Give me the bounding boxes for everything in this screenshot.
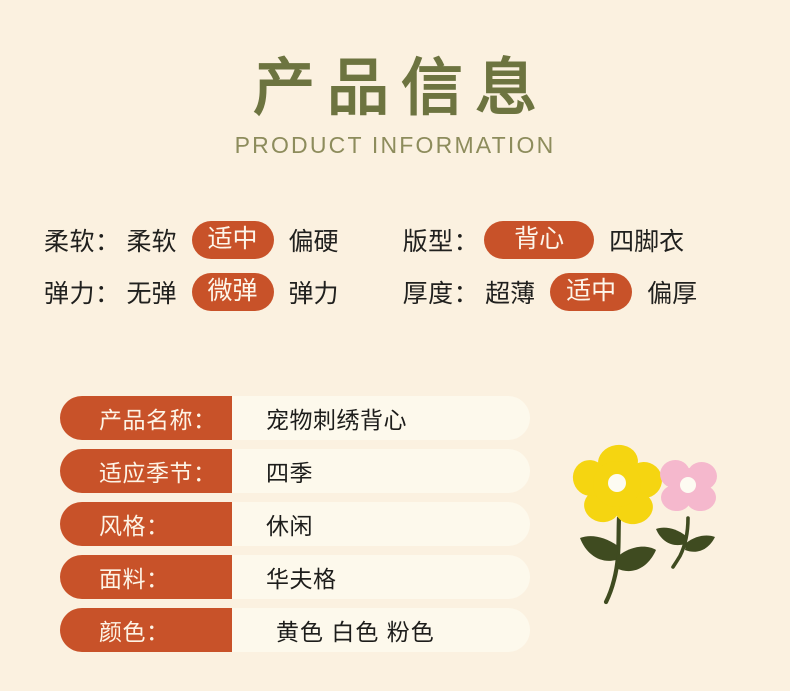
attribute-option-softness-medium-selected[interactable]: 适中: [192, 221, 274, 259]
attribute-option-softness-soft[interactable]: 柔软: [121, 222, 187, 258]
table-row: 产品名称： 宠物刺绣背心: [60, 396, 530, 440]
spec-value-product-name: 宠物刺绣背心: [232, 396, 530, 440]
attribute-option-thickness-medium-selected[interactable]: 适中: [550, 273, 632, 311]
spec-key-fabric: 面料：: [60, 555, 232, 599]
attribute-option-fit-four-legged[interactable]: 四脚衣: [599, 222, 694, 258]
specification-table: 产品名称： 宠物刺绣背心 适应季节： 四季 风格： 休闲 面料： 华夫格 颜色：…: [60, 396, 530, 652]
attribute-option-elasticity-none[interactable]: 无弹: [121, 274, 187, 310]
attribute-column-left: 柔软： 柔软 适中 偏硬 弹力： 无弹 微弹 弹力: [44, 221, 349, 311]
attribute-option-elasticity-slight-selected[interactable]: 微弹: [192, 273, 274, 311]
attribute-scales: 柔软： 柔软 适中 偏硬 弹力： 无弹 微弹 弹力 版型： 背心 四脚衣 厚度：…: [0, 221, 790, 311]
table-row: 颜色： 黄色 白色 粉色: [60, 608, 530, 652]
attribute-row-thickness: 厚度： 超薄 适中 偏厚: [403, 273, 708, 311]
attribute-option-fit-vest-selected[interactable]: 背心: [484, 221, 594, 259]
page-header: 产品信息 PRODUCT INFORMATION: [0, 0, 790, 159]
spec-value-season: 四季: [232, 449, 530, 493]
attribute-option-thickness-ultrathin[interactable]: 超薄: [479, 274, 545, 310]
flower-yellow-center: [608, 474, 626, 492]
attribute-option-softness-firm[interactable]: 偏硬: [279, 222, 349, 258]
spec-key-season: 适应季节：: [60, 449, 232, 493]
flower-decoration-svg: [572, 440, 742, 615]
page-title: 产品信息: [0, 56, 790, 121]
attribute-row-fit: 版型： 背心 四脚衣: [403, 221, 708, 259]
spec-key-style: 风格：: [60, 502, 232, 546]
spec-key-product-name: 产品名称：: [60, 396, 232, 440]
attribute-label-softness: 柔软：: [44, 222, 121, 258]
flower-pink-icon: [656, 458, 719, 567]
attribute-option-thickness-thick[interactable]: 偏厚: [637, 274, 707, 310]
attribute-label-thickness: 厚度：: [403, 274, 480, 310]
attribute-label-fit: 版型：: [403, 222, 480, 258]
attribute-option-elasticity-stretchy[interactable]: 弹力: [279, 274, 349, 310]
attribute-column-right: 版型： 背心 四脚衣 厚度： 超薄 适中 偏厚: [403, 221, 708, 311]
table-row: 风格： 休闲: [60, 502, 530, 546]
flower-pink-center: [680, 477, 696, 493]
table-row: 面料： 华夫格: [60, 555, 530, 599]
attribute-row-softness: 柔软： 柔软 适中 偏硬: [44, 221, 349, 259]
flower-decoration: [572, 440, 742, 615]
flower-yellow-icon: [572, 442, 667, 602]
table-row: 适应季节： 四季: [60, 449, 530, 493]
spec-key-color: 颜色：: [60, 608, 232, 652]
spec-value-fabric: 华夫格: [232, 555, 530, 599]
spec-value-color: 黄色 白色 粉色: [232, 608, 530, 652]
attribute-label-elasticity: 弹力：: [44, 274, 121, 310]
page-subtitle: PRODUCT INFORMATION: [0, 132, 790, 159]
attribute-row-elasticity: 弹力： 无弹 微弹 弹力: [44, 273, 349, 311]
spec-value-style: 休闲: [232, 502, 530, 546]
